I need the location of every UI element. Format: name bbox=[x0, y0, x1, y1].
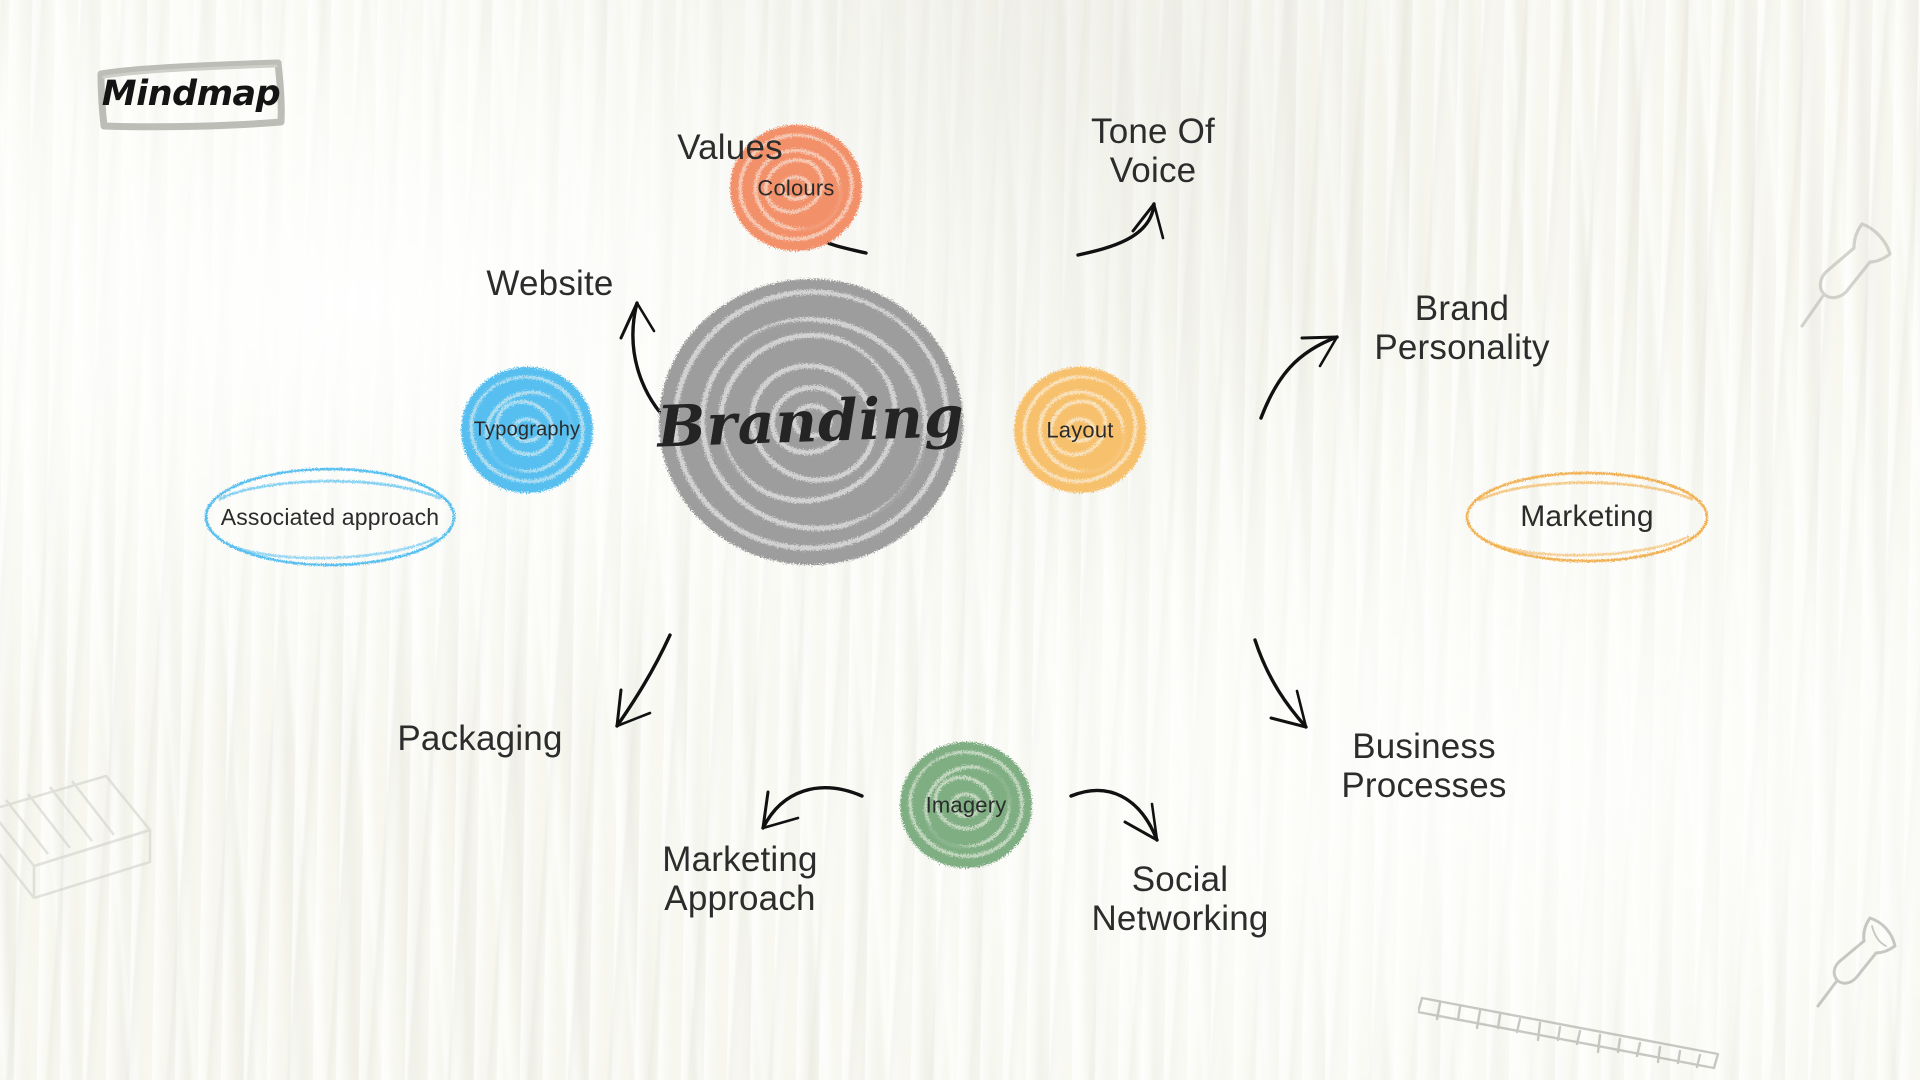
layout-label: Layout bbox=[1002, 417, 1158, 442]
node-imagery[interactable]: Imagery bbox=[888, 735, 1044, 875]
colours-label: Colours bbox=[718, 175, 874, 200]
node-marketing-note[interactable]: Marketing bbox=[1462, 467, 1712, 567]
label-brand-personality: Brand Personality bbox=[1292, 289, 1632, 367]
mindmap-canvas: Mindmap bbox=[0, 0, 1920, 1080]
node-branding[interactable]: Branding bbox=[636, 268, 986, 576]
label-tone-of-voice: Tone Of Voice bbox=[1038, 112, 1268, 190]
node-associated-approach[interactable]: Associated approach bbox=[200, 462, 460, 572]
label-values: Values bbox=[630, 128, 830, 167]
label-marketing-approach: Marketing Approach bbox=[580, 840, 900, 918]
associated-approach-label: Associated approach bbox=[200, 504, 460, 530]
label-packaging: Packaging bbox=[330, 719, 630, 758]
imagery-label: Imagery bbox=[888, 792, 1044, 817]
label-website: Website bbox=[410, 264, 690, 303]
branding-label: Branding bbox=[635, 383, 987, 461]
marketing-note-label: Marketing bbox=[1462, 500, 1712, 535]
node-typography[interactable]: Typography bbox=[449, 360, 605, 500]
label-business-processes: Business Processes bbox=[1264, 727, 1584, 805]
label-social-networking: Social Networking bbox=[1010, 860, 1350, 938]
node-layout[interactable]: Layout bbox=[1002, 360, 1158, 500]
typography-label: Typography bbox=[449, 419, 605, 442]
